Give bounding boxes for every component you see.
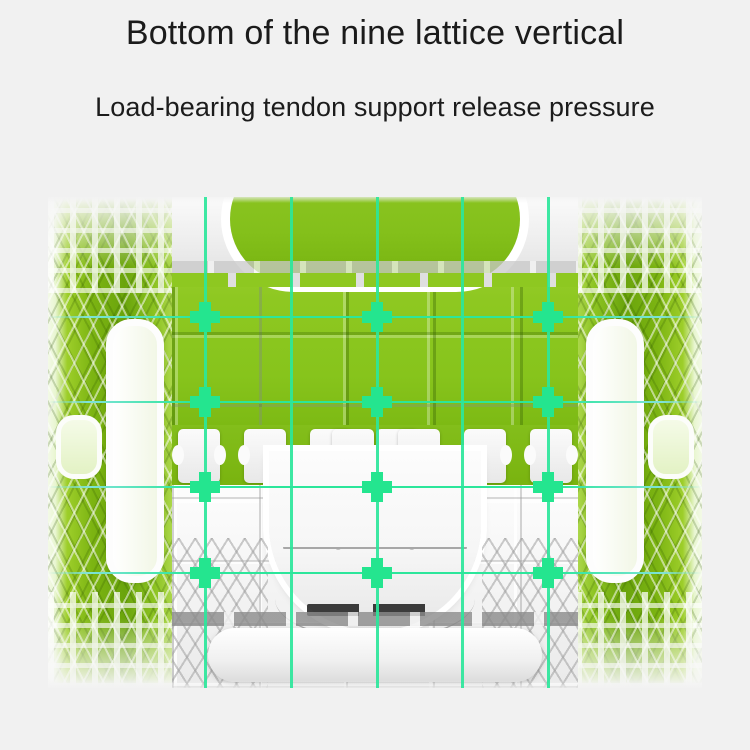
left-handle-tab <box>56 415 102 479</box>
clip-notch-icon <box>214 445 226 465</box>
bowl-crease <box>283 547 467 567</box>
latch-clip <box>530 429 572 483</box>
bottom-foot-pill <box>208 628 542 682</box>
top-rim <box>172 197 578 275</box>
clip-notch-icon <box>172 445 184 465</box>
product-photo <box>0 195 750 690</box>
clip-notch-icon <box>566 445 578 465</box>
clip-notch-icon <box>524 445 536 465</box>
clip-notch-icon <box>500 445 512 465</box>
left-handle-slot <box>106 319 164 583</box>
rim-tab-strip <box>172 273 578 287</box>
page-subtitle: Load-bearing tendon support release pres… <box>0 92 750 123</box>
right-handle-slot <box>586 319 644 583</box>
bottom-foot-strip <box>172 612 578 626</box>
lower-white-basin <box>172 485 578 688</box>
right-handle-tab <box>648 415 694 479</box>
crate-body <box>48 197 702 688</box>
crate-inner-panel <box>172 197 578 688</box>
slide-root: Bottom of the nine lattice vertical Load… <box>0 0 750 750</box>
page-title: Bottom of the nine lattice vertical <box>0 14 750 53</box>
latch-clip <box>178 429 220 483</box>
clip-notch-icon <box>238 445 250 465</box>
